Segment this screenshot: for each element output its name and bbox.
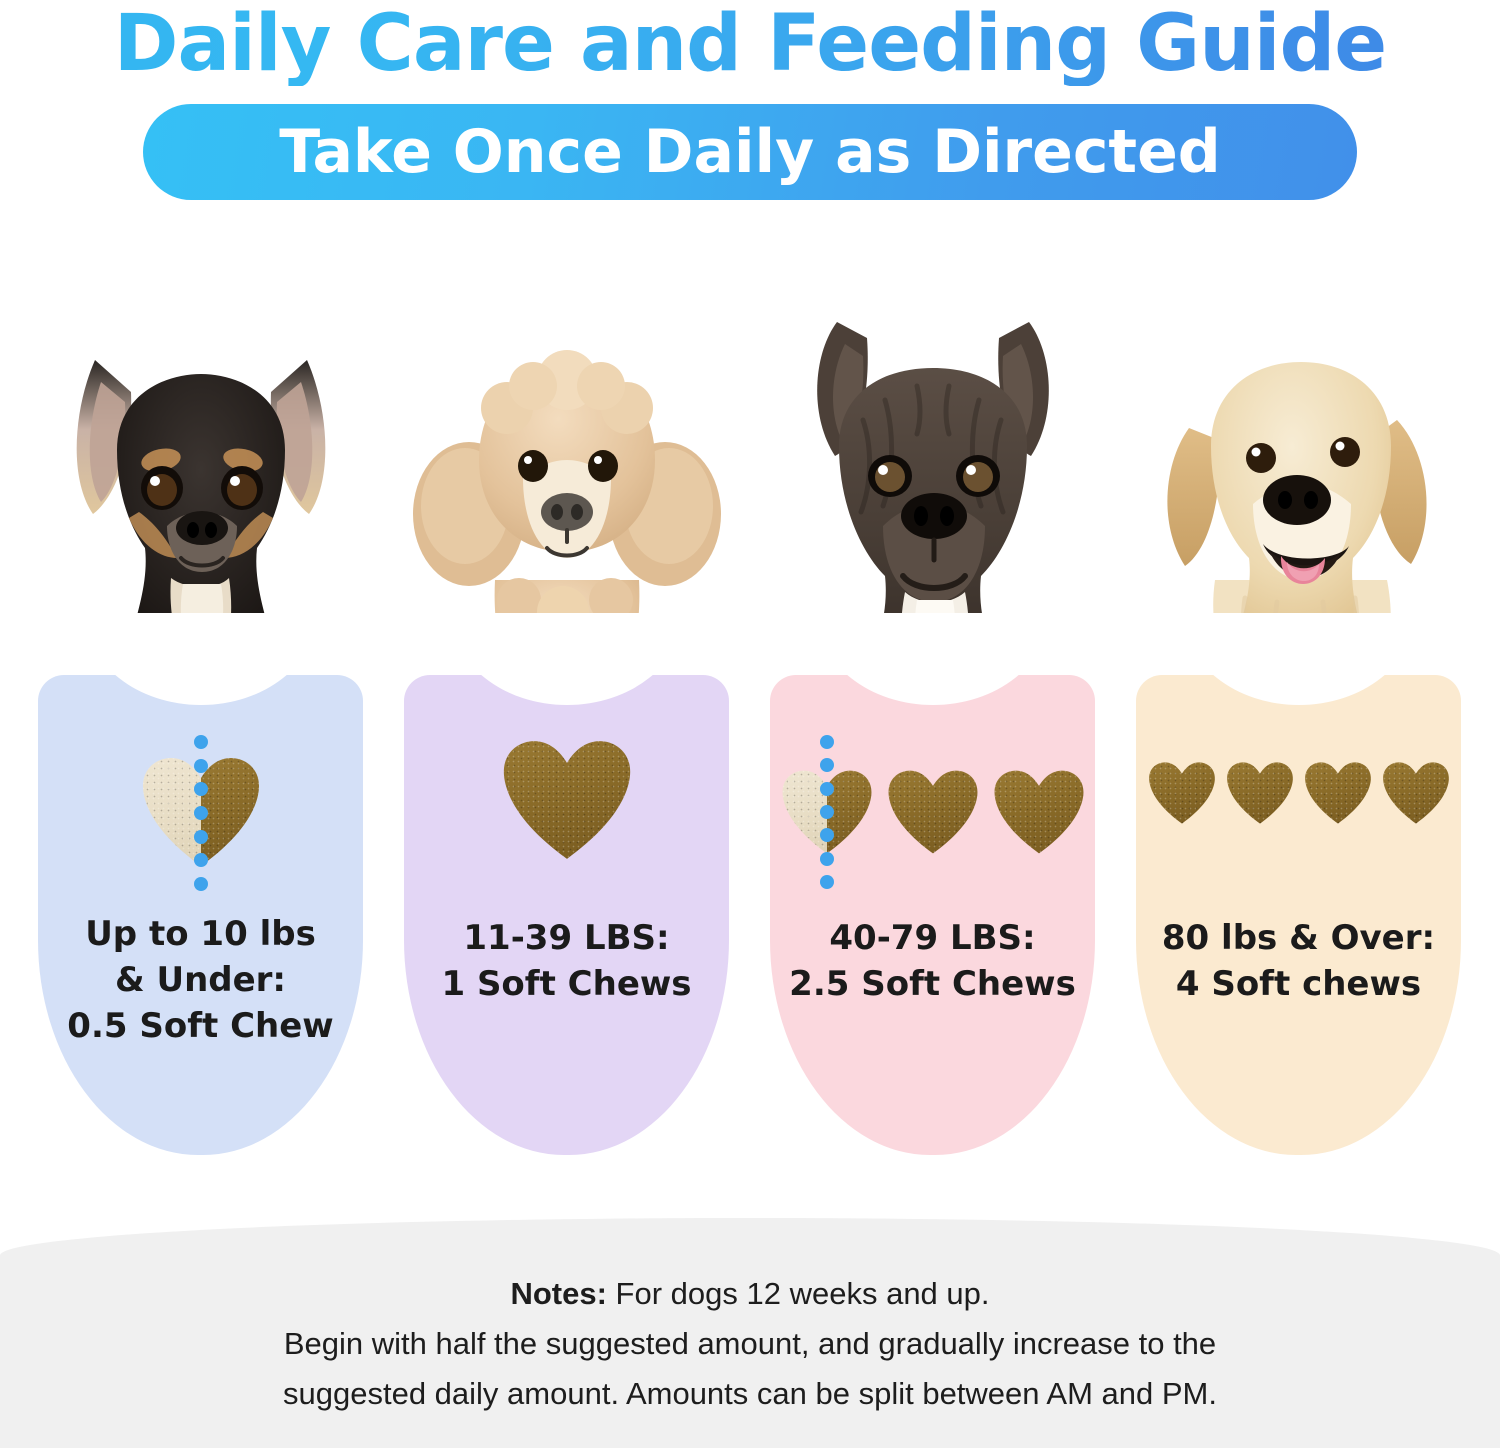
notes-line-3: suggested daily amount. Amounts can be s… xyxy=(120,1369,1380,1419)
subtitle-text: Take Once Daily as Directed xyxy=(279,117,1220,187)
card-label-line2: 4 Soft chews xyxy=(1144,961,1453,1007)
chew-cut-line-dots-3 xyxy=(820,735,834,889)
card-label-line2: & Under: xyxy=(46,957,355,1003)
pocket-shape-2: 11-39 LBS: 1 Soft Chews xyxy=(404,675,729,1155)
pocket-shape-4: 80 lbs & Over: 4 Soft chews xyxy=(1136,675,1461,1155)
card-label-line1: 80 lbs & Over: xyxy=(1144,915,1453,961)
pocket-shape-1: Up to 10 lbs & Under: 0.5 Soft Chew xyxy=(38,675,363,1155)
notes-line1-text: For dogs 12 weeks and up. xyxy=(607,1276,990,1311)
card-label-3: 40-79 LBS: 2.5 Soft Chews xyxy=(778,915,1087,1007)
chew-grain-texture xyxy=(1304,761,1372,825)
notes-line-1: Notes: For dogs 12 weeks and up. xyxy=(120,1269,1380,1319)
chew-illustration-1 xyxy=(38,727,363,897)
page-title: Daily Care and Feeding Guide xyxy=(0,0,1500,86)
chew-grain-texture xyxy=(501,739,633,861)
subtitle-pill-wrapper: Take Once Daily as Directed xyxy=(0,104,1500,200)
dosage-card-up-to-10lbs: Up to 10 lbs & Under: 0.5 Soft Chew xyxy=(21,300,381,1170)
chew-illustration-4 xyxy=(1136,733,1461,853)
card-label-4: 80 lbs & Over: 4 Soft chews xyxy=(1144,915,1453,1007)
notes-line-2: Begin with half the suggested amount, an… xyxy=(120,1319,1380,1369)
chew-grain-texture xyxy=(1382,761,1450,825)
chew-grain-texture xyxy=(887,769,979,855)
chew-full-group xyxy=(887,769,979,855)
chew-full-group xyxy=(1304,761,1372,825)
chew-grain-texture xyxy=(1226,761,1294,825)
chew-grain-texture xyxy=(1148,761,1216,825)
chew-illustration-2 xyxy=(404,735,729,865)
dosage-card-11-39lbs: 11-39 LBS: 1 Soft Chews xyxy=(387,300,747,1170)
card-label-line1: 40-79 LBS: xyxy=(778,915,1087,961)
notes-label: Notes: xyxy=(510,1276,606,1311)
chew-full-group xyxy=(1382,761,1450,825)
dosage-card-80lbs-over: 80 lbs & Over: 4 Soft chews xyxy=(1119,300,1479,1170)
chew-full-group xyxy=(1148,761,1216,825)
chew-cut-line-dots-1 xyxy=(194,735,208,891)
card-label-2: 11-39 LBS: 1 Soft Chews xyxy=(412,915,721,1007)
subtitle-pill: Take Once Daily as Directed xyxy=(143,104,1357,200)
feeding-guide-page: Daily Care and Feeding Guide Take Once D… xyxy=(0,0,1500,1448)
card-label-line3: 0.5 Soft Chew xyxy=(46,1003,355,1049)
header: Daily Care and Feeding Guide Take Once D… xyxy=(0,0,1500,200)
card-label-line2: 1 Soft Chews xyxy=(412,961,721,1007)
chew-half-group xyxy=(781,769,873,855)
chew-grain-texture xyxy=(993,769,1085,855)
card-label-1: Up to 10 lbs & Under: 0.5 Soft Chew xyxy=(46,911,355,1050)
dosage-cards-row: Up to 10 lbs & Under: 0.5 Soft Chew xyxy=(0,300,1500,1170)
pocket-shape-3: 40-79 LBS: 2.5 Soft Chews xyxy=(770,675,1095,1155)
chew-full-group xyxy=(993,769,1085,855)
chew-illustration-3 xyxy=(770,727,1095,897)
card-label-line2: 2.5 Soft Chews xyxy=(778,961,1087,1007)
card-label-line1: 11-39 LBS: xyxy=(412,915,721,961)
notes-section: Notes: For dogs 12 weeks and up. Begin w… xyxy=(0,1218,1500,1448)
card-label-line1: Up to 10 lbs xyxy=(46,911,355,957)
chew-full-group xyxy=(1226,761,1294,825)
dosage-card-40-79lbs: 40-79 LBS: 2.5 Soft Chews xyxy=(753,300,1113,1170)
